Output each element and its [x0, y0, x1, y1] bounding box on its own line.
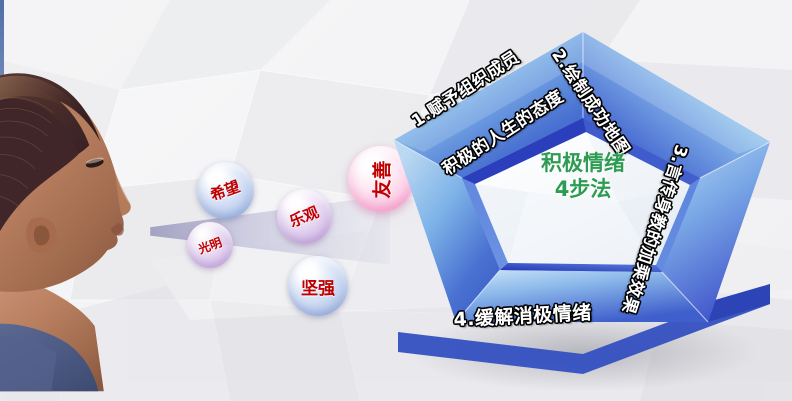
- center-line-2: 4步法: [498, 176, 668, 202]
- bubble-hope[interactable]: 希望: [197, 162, 254, 219]
- bubble-brightness[interactable]: 光明: [187, 222, 233, 268]
- bubble-label: 希望: [208, 176, 243, 206]
- diagram-center-label: 积极情绪 4步法: [498, 150, 668, 203]
- slide-canvas: 希望 光明 乐观 坚强 友善: [0, 0, 792, 401]
- bubble-optimism[interactable]: 乐观: [277, 189, 332, 244]
- center-line-1: 积极情绪: [498, 150, 668, 176]
- bubble-label: 坚强: [301, 274, 335, 299]
- bubble-label: 光明: [196, 233, 224, 257]
- woman-profile-silhouette: [0, 38, 178, 401]
- pentagon-cycle-diagram: 1.赋予组织成员 积极的人生的态度 2.绘制成功地图 3.言传身教的加乘效果 4…: [378, 22, 778, 390]
- bubble-label: 乐观: [287, 201, 323, 232]
- bubble-strength[interactable]: 坚强: [288, 256, 348, 316]
